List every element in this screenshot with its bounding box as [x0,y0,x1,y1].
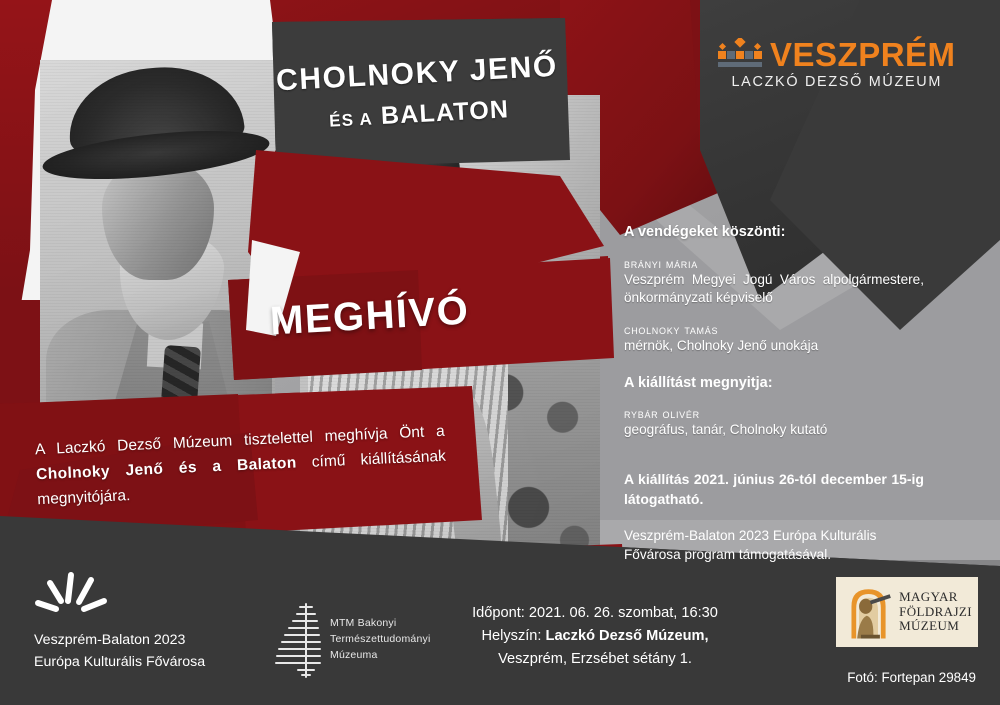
title-line-1: CHOLNOKY JENŐ [275,50,558,99]
event-place-value: Laczkó Dezső Múzeum, [546,628,709,644]
mtm-logo-line-3: Múzeuma [330,648,430,664]
greeter-name: Cholnoky Tamás [624,323,924,337]
event-time-value: 2021. 06. 26. szombat, 16:30 [529,605,718,621]
mtm-logo-line-1: MTM Bakonyi [330,616,430,632]
event-time-row: Időpont: 2021. 06. 26. szombat, 16:30 [430,602,760,625]
veb2023-logo: Veszprém-Balaton 2023 Európa Kulturális … [34,571,224,673]
photo-woman-garden [300,95,600,655]
greeter-role: Veszprém Megyei Jogú Város alpolgármeste… [624,271,924,308]
exhibition-title: CHOLNOKY JENŐ ÉS A BALATON [264,14,571,172]
veb-logo-line-1: Veszprém-Balaton 2023 [34,630,224,651]
crown-pixel-icon [718,38,762,70]
invitation-exhibition-name: Cholnoky Jenő és a Balaton [36,455,297,484]
mtm-logo-line-2: Természettudományi [330,632,430,648]
mfm-logo-line-1: MAGYAR [899,590,972,605]
surveyor-seal-icon [842,582,895,642]
mfm-logo-line-2: FÖLDRAJZI [899,605,972,620]
starburst-icon [34,571,108,615]
magyar-foldrajzi-muzeum-logo: MAGYAR FÖLDRAJZI MÚZEUM [836,577,978,647]
veb-logo-line-2: Európa Kulturális Fővárosa [34,652,224,673]
museum-logo-subtitle: LACZKÓ DEZSŐ MÚZEUM [718,74,956,90]
exhibition-run-dates: A kiállítás 2021. június 26-tól december… [624,470,924,510]
opener-name: Rybár Olivér [624,407,924,421]
invitation-poster: CHOLNOKY JENŐ ÉS A BALATON MEGHÍVÓ A Lac… [0,0,1000,705]
program-column: A vendégeket köszönti: Brányi Mária Vesz… [624,224,924,564]
greeter-entry: Brányi Mária Veszprém Megyei Jogú Város … [624,257,924,308]
opener-entry: Rybár Olivér geográfus, tanár, Cholnoky … [624,407,924,439]
opening-header: A kiállítást megnyitja: [624,375,924,391]
greeter-role: mérnök, Cholnoky Jenő unokája [624,337,924,355]
mtm-bakony-logo: MTM Bakonyi Természettudományi Múzeuma [272,601,430,679]
veszprem-museum-logo: VESZPRÉM LACZKÓ DEZSŐ MÚZEUM [718,38,956,90]
title-conjunction: ÉS A [329,109,374,130]
museum-logo-word: VESZPRÉM [770,39,956,70]
opener-role: geográfus, tanár, Cholnoky kutató [624,421,924,439]
greeting-header: A vendégeket köszönti: [624,224,924,240]
mfm-logo-line-3: MÚZEUM [899,619,972,634]
event-place-row: Helyszín: Laczkó Dezső Múzeum, [430,625,760,648]
event-place-label: Helyszín: [481,628,545,644]
support-note: Veszprém-Balaton 2023 Európa Kulturális … [624,526,924,564]
title-line-2: ÉS A BALATON [328,95,510,133]
event-details: Időpont: 2021. 06. 26. szombat, 16:30 He… [430,602,760,671]
event-time-label: Időpont: [472,605,529,621]
fir-tree-icon [272,601,324,679]
photo-credit: Fotó: Fortepan 29849 [847,670,976,685]
greeter-entry: Cholnoky Tamás mérnök, Cholnoky Jenő uno… [624,323,924,355]
title-balaton: BALATON [380,95,510,130]
greeter-name: Brányi Mária [624,257,924,271]
event-address: Veszprém, Erzsébet sétány 1. [430,648,760,671]
